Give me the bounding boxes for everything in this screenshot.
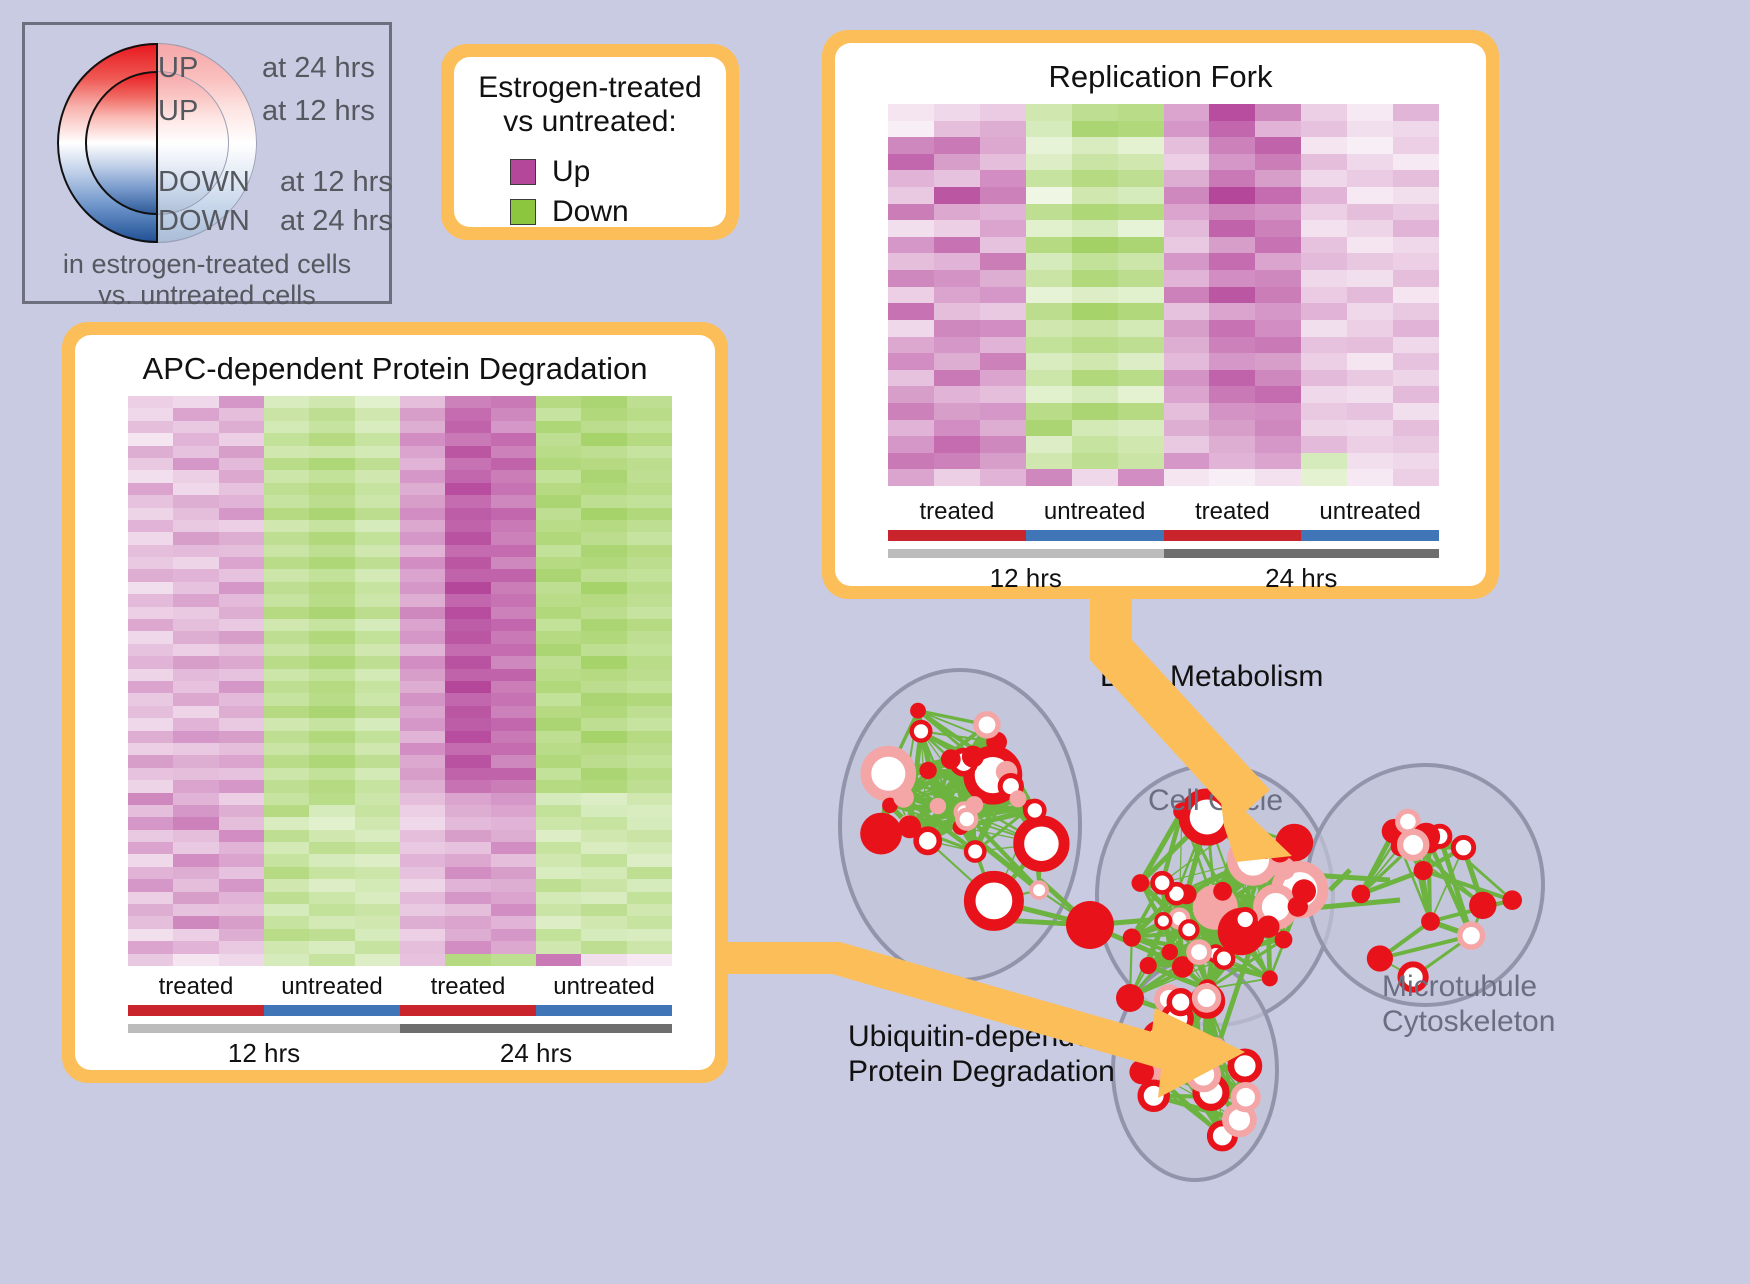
arrow-replication-fork-to-dna-metabolism bbox=[1090, 599, 1270, 820]
arrow-apc-to-ubiquitin bbox=[728, 942, 1180, 1072]
figure-canvas: UP at 24 hrs UP at 12 hrs DOWN at 12 hrs… bbox=[0, 0, 1750, 1279]
arrowhead-ubiquitin bbox=[1150, 1008, 1245, 1098]
callout-arrows bbox=[0, 0, 1750, 1279]
